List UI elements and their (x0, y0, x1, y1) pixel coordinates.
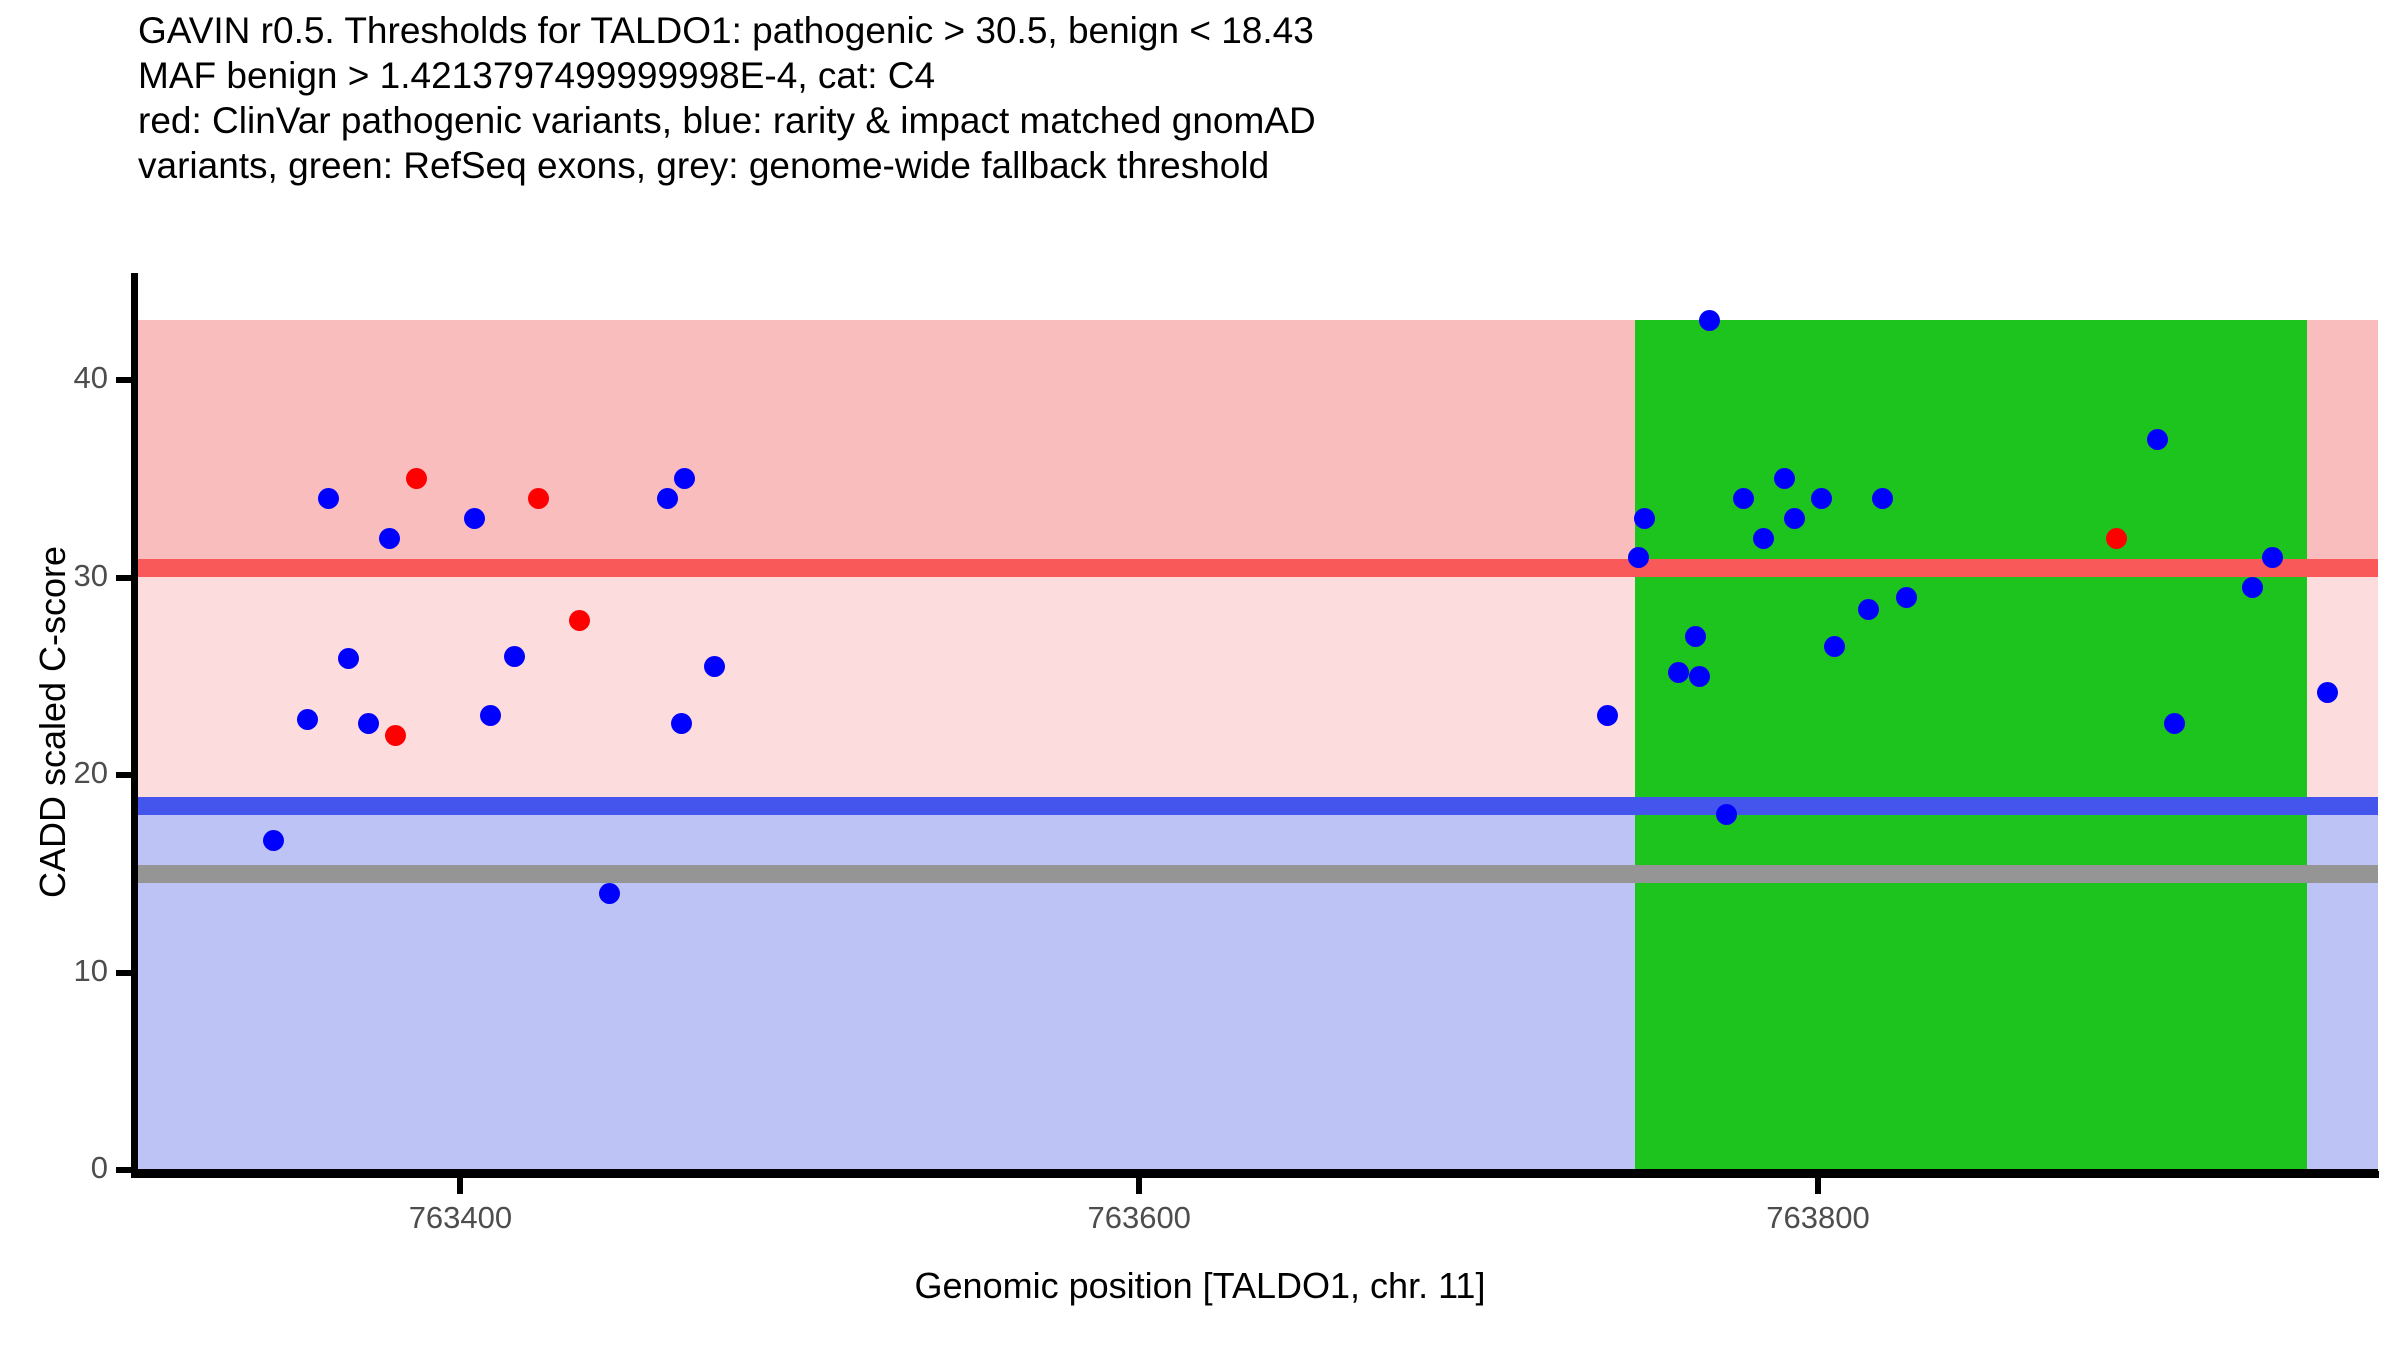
y-axis-title: CADD scaled C-score (32, 545, 74, 897)
gnomad-point (338, 648, 359, 669)
scatter-plot (138, 273, 2378, 1170)
gnomad-point (1733, 488, 1754, 509)
y-tick (116, 970, 132, 976)
x-axis-title: Genomic position [TALDO1, chr. 11] (0, 1265, 2400, 1307)
gnomad-point (1811, 488, 1832, 509)
threshold-line-pathogenic (138, 559, 2378, 577)
threshold-line-benign (138, 797, 2378, 815)
gnomad-point (1858, 599, 1879, 620)
y-tick (116, 377, 132, 383)
gnomad-point (464, 508, 485, 529)
gnomad-point (1872, 488, 1893, 509)
y-tick-label: 40 (74, 360, 108, 396)
x-tick (1815, 1178, 1821, 1194)
x-tick (1136, 1178, 1142, 1194)
gnomad-point (379, 528, 400, 549)
gnomad-point (263, 830, 284, 851)
gnomad-point (1668, 662, 1689, 683)
y-tick-label: 0 (91, 1150, 108, 1186)
y-tick (116, 1167, 132, 1173)
plot-area (138, 273, 2378, 1170)
x-tick (457, 1178, 463, 1194)
exon-rect (1635, 320, 2307, 1170)
gnomad-point (2317, 682, 2338, 703)
gnomad-point (671, 713, 692, 734)
gnomad-point (1896, 587, 1917, 608)
clinvar-point (528, 488, 549, 509)
title-line-2: MAF benign > 1.4213797499999998E-4, cat:… (138, 53, 2338, 98)
y-axis-line (131, 273, 138, 1178)
gnomad-point (1784, 508, 1805, 529)
gnomad-point (1774, 468, 1795, 489)
gnomad-point (2147, 429, 2168, 450)
gnomad-point (1716, 804, 1737, 825)
title-line-1: GAVIN r0.5. Thresholds for TALDO1: patho… (138, 8, 2338, 53)
y-tick-label: 20 (74, 755, 108, 791)
gnomad-point (2164, 713, 2185, 734)
gnomad-point (657, 488, 678, 509)
gnomad-point (1753, 528, 1774, 549)
threshold-line-genome-wide-fallback (138, 865, 2378, 883)
clinvar-point (569, 610, 590, 631)
gnomad-point (1689, 666, 1710, 687)
gnomad-point (1699, 310, 1720, 331)
gnomad-point (2242, 577, 2263, 598)
x-tick-label: 763600 (1087, 1200, 1190, 1236)
x-tick-label: 763400 (409, 1200, 512, 1236)
title-line-4: variants, green: RefSeq exons, grey: gen… (138, 143, 2338, 188)
title-line-3: red: ClinVar pathogenic variants, blue: … (138, 98, 2338, 143)
clinvar-point (2106, 528, 2127, 549)
gnomad-point (318, 488, 339, 509)
chart-title-block: GAVIN r0.5. Thresholds for TALDO1: patho… (138, 8, 2338, 188)
gnomad-point (1628, 547, 1649, 568)
clinvar-point (406, 468, 427, 489)
x-axis-line (131, 1171, 2379, 1178)
y-tick-label: 10 (74, 953, 108, 989)
panel-bottom-border (138, 1169, 2378, 1171)
y-tick-label: 30 (74, 558, 108, 594)
y-tick (116, 772, 132, 778)
y-tick (116, 575, 132, 581)
x-tick-label: 763800 (1766, 1200, 1869, 1236)
